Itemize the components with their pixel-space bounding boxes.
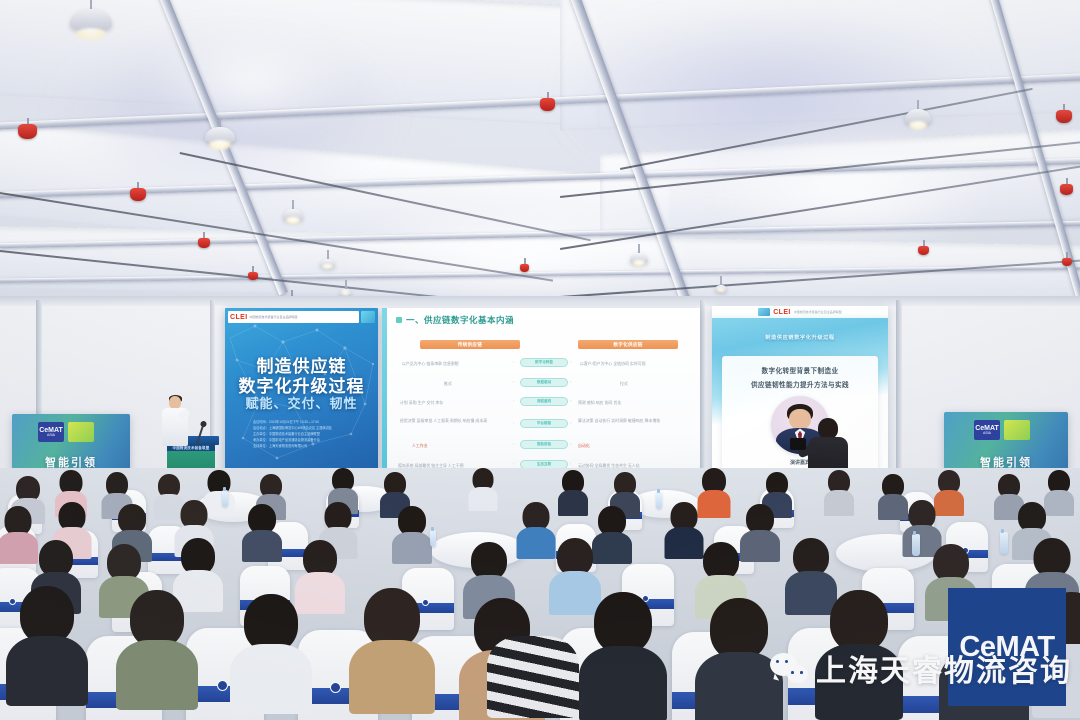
banner-meta-block: 会议时间：2023年10月24日下午 13:30—17:00 会议地点：上海新国… bbox=[253, 420, 370, 450]
projection-screen: 一、供应链数字化基本内涵 传统供应链 数字化供应链 以产品为中心 链条串联 信息… bbox=[382, 308, 700, 483]
audience-member bbox=[300, 540, 340, 596]
pendant-lamp bbox=[320, 250, 335, 265]
slide-title: 一、供应链数字化基本内涵 bbox=[396, 314, 514, 326]
partner-logo-left bbox=[68, 422, 94, 442]
audience-member bbox=[520, 502, 552, 546]
audience-member bbox=[590, 592, 656, 690]
speaker-role-label: 演讲嘉宾 bbox=[722, 459, 878, 466]
pendant-lamp bbox=[630, 244, 648, 262]
slide-title-text: 一、供应链数字化基本内涵 bbox=[406, 314, 514, 326]
wall-post bbox=[896, 300, 902, 490]
sprinkler-head bbox=[520, 258, 529, 269]
banner-secondary-logo bbox=[361, 311, 375, 323]
water-bottle bbox=[222, 490, 228, 507]
slide-row-pill: 数字化转型 bbox=[520, 358, 568, 367]
audience-member bbox=[668, 502, 700, 546]
panel-secondary-logo bbox=[758, 308, 770, 316]
tent-ceiling bbox=[0, 0, 1080, 310]
audience-member bbox=[396, 506, 428, 550]
sprinkler-head bbox=[1060, 178, 1073, 193]
sprinkler-head bbox=[1056, 104, 1072, 123]
sprinkler-head bbox=[130, 182, 146, 201]
audience-member bbox=[58, 470, 84, 506]
audience-member bbox=[246, 504, 278, 548]
slide-row-left: 计划 采购 生产 交付 库存 bbox=[400, 400, 443, 406]
wechat-watermark: 上海天睿物流咨询 bbox=[770, 648, 1072, 688]
partner-logo-right bbox=[1004, 420, 1030, 440]
audience-member bbox=[554, 538, 596, 596]
water-bottle bbox=[656, 492, 662, 509]
audience-member bbox=[116, 504, 148, 548]
cemat-logo-left: CeMAT ASIA bbox=[38, 422, 64, 442]
sprinkler-head bbox=[198, 232, 210, 246]
audience-member bbox=[790, 538, 832, 596]
wall-top-edge bbox=[0, 296, 1080, 306]
wechat-account-name: 上海天睿物流咨询 bbox=[816, 646, 1072, 690]
audience-member bbox=[700, 542, 742, 600]
slide-row-left: 人工作业 bbox=[412, 443, 428, 449]
slide-row-left: 推式 bbox=[444, 381, 452, 387]
slide-row-left: 以产品为中心 链条串联 信息割裂 bbox=[402, 361, 459, 367]
audience-member bbox=[382, 472, 408, 508]
water-bottle bbox=[912, 534, 920, 556]
conference-photo-scene: CeMAT ASIA 智能引领 协同共享 CeMAT ASIA 智能引领 协同共… bbox=[0, 0, 1080, 720]
audience-member bbox=[1046, 470, 1072, 506]
pendant-lamp bbox=[340, 280, 351, 291]
audience-member bbox=[906, 500, 938, 544]
panel-logo-bar: CLEI 中国物流技术装备行业自主品牌联盟 bbox=[712, 306, 888, 318]
slide-row-right: 拉式 bbox=[620, 381, 628, 387]
slide-row-left: 经验决策 层级审批 人工报表 周期长 响应慢 成本高 bbox=[400, 418, 512, 424]
audience-member bbox=[470, 468, 496, 502]
audience-member bbox=[468, 542, 510, 600]
slide-row-right: 预测 感知 响应 协同 优化 bbox=[578, 400, 621, 406]
wechat-icon bbox=[770, 653, 808, 683]
slide-row-right: 自动化 bbox=[578, 443, 590, 449]
sprinkler-head bbox=[540, 92, 555, 110]
banner-header-logos: CLEI 中国物流技术装备行业自主品牌联盟 bbox=[228, 311, 375, 323]
water-bottle bbox=[1000, 532, 1008, 554]
water-bottle bbox=[430, 530, 436, 547]
slide-row-pill: 智能装备 bbox=[520, 440, 568, 449]
sprinkler-head bbox=[918, 240, 929, 253]
audience-member bbox=[700, 468, 728, 506]
presenter-speaker bbox=[160, 396, 190, 452]
audience-member bbox=[880, 474, 906, 510]
slide-row-pill: 数据驱动 bbox=[520, 378, 568, 387]
audience-member bbox=[596, 506, 628, 550]
audience-member bbox=[178, 538, 218, 594]
audience-member bbox=[706, 598, 772, 696]
audience-member bbox=[744, 504, 776, 548]
screen-left-accent bbox=[382, 308, 387, 483]
pendant-lamp bbox=[905, 100, 931, 126]
sprinkler-head bbox=[18, 118, 37, 140]
video-camera-icon bbox=[790, 438, 806, 450]
topic-line1: 数字化转型背景下制造业 bbox=[722, 365, 878, 375]
audience-member bbox=[936, 470, 962, 506]
slide-row-right: 算法决策 自动执行 实时洞察 敏捷响应 降本增效 bbox=[578, 418, 690, 424]
slide-row-pill: 平台赋能 bbox=[520, 419, 568, 428]
audience-member bbox=[560, 470, 586, 506]
wall-post bbox=[700, 300, 705, 490]
clei-logo-right: CLEI bbox=[773, 309, 791, 316]
slide-title-marker-icon bbox=[396, 317, 402, 323]
slide-column-header-right: 数字化供应链 bbox=[578, 340, 678, 349]
banner-subtitle: 赋能、交付、韧性 bbox=[225, 393, 378, 412]
audience-member bbox=[240, 594, 302, 686]
audience-member bbox=[2, 506, 34, 550]
audience-member bbox=[612, 472, 638, 508]
audience-member bbox=[330, 468, 356, 504]
event-banner-left: CLEI 中国物流技术装备行业自主品牌联盟 制造供应链 数字化升级过程 赋能、交… bbox=[225, 308, 378, 480]
panel-ribbon-text: 制造供应链数字化升级过程 bbox=[712, 334, 888, 341]
audience-member bbox=[16, 586, 78, 678]
slide-row-right: 以客户/用户为中心 全链协同 实时可视 bbox=[580, 361, 646, 367]
banner-meta-line: 支持单位：上海天睿物流咨询有限公司 bbox=[253, 444, 370, 450]
audience-member bbox=[498, 616, 568, 716]
pendant-lamp bbox=[70, 0, 112, 36]
audience-member bbox=[764, 472, 790, 508]
topic-line2: 供应链韧性能力提升方法与实践 bbox=[722, 379, 878, 389]
audience-member bbox=[360, 588, 424, 684]
clei-logo-sub-right: 中国物流技术装备行业自主品牌联盟 bbox=[794, 310, 842, 314]
pendant-lamp bbox=[205, 118, 235, 146]
clei-logo-left: CLEI 中国物流技术装备行业自主品牌联盟 bbox=[228, 311, 359, 323]
pendant-lamp bbox=[715, 276, 727, 288]
audience-member bbox=[826, 470, 852, 506]
audience-member bbox=[126, 590, 188, 682]
audience-member bbox=[104, 472, 130, 508]
sprinkler-head bbox=[248, 266, 258, 278]
pendant-lamp bbox=[283, 200, 303, 220]
slide-column-header-left: 传统供应链 bbox=[420, 340, 520, 349]
cemat-logo-right: CeMAT ASIA bbox=[974, 420, 1000, 440]
sprinkler-head bbox=[1062, 252, 1072, 264]
slide-row-pill: 流程重构 bbox=[520, 397, 568, 406]
speaker-card: 数字化转型背景下制造业 供应链韧性能力提升方法与实践 演讲嘉宾 上海天睿物流咨询… bbox=[722, 356, 878, 476]
